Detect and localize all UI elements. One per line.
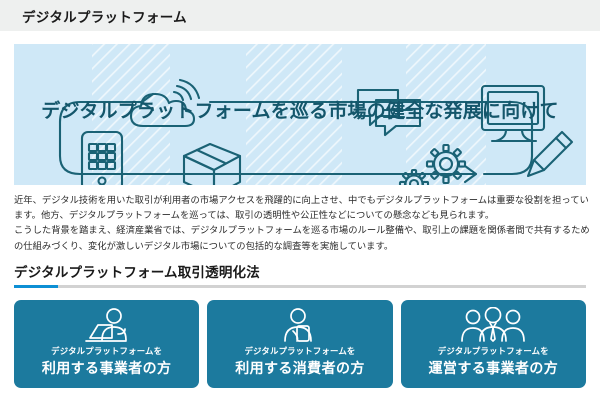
card-line1: デジタルプラットフォームを — [51, 345, 162, 357]
section-heading-text: デジタルプラットフォーム取引透明化法 — [14, 261, 586, 285]
page-root: デジタルプラットフォーム — [0, 0, 600, 400]
page-title: デジタルプラットフォーム — [22, 6, 187, 26]
card-business-user[interactable]: デジタルプラットフォームを 利用する事業者の方 — [14, 300, 199, 388]
card-consumer-user[interactable]: デジタルプラットフォームを 利用する消費者の方 — [207, 300, 392, 388]
card-list: デジタルプラットフォームを 利用する事業者の方 デジタルプラットフォームを 利用… — [14, 300, 586, 388]
pencil-icon — [528, 132, 572, 176]
hero-title: デジタルプラットフォームを巡る市場の健全な発展に向けて — [14, 96, 586, 123]
body-line-3: こうした背景を踏まえ、経済産業省では、デジタルプラットフォームを巡る市場のルール… — [14, 223, 586, 238]
section-heading: デジタルプラットフォーム取引透明化法 — [14, 261, 586, 288]
section-accent-rule — [14, 285, 586, 288]
card-line2: 運営する事業者の方 — [429, 358, 559, 378]
card-line1: デジタルプラットフォームを — [244, 345, 355, 357]
page-header: デジタルプラットフォーム — [0, 0, 600, 31]
person-smartphone-icon — [269, 307, 331, 343]
card-line2: 利用する消費者の方 — [235, 358, 365, 378]
body-copy: 近年、デジタル技術を用いた取引が利用者の市場アクセスを飛躍的に向上させ、中でもデ… — [14, 193, 586, 254]
hero-banner: デジタルプラットフォームを巡る市場の健全な発展に向けて — [14, 44, 586, 185]
person-laptop-icon — [76, 307, 138, 343]
card-platform-operator[interactable]: デジタルプラットフォームを 運営する事業者の方 — [401, 300, 586, 388]
card-line1: デジタルプラットフォームを — [438, 345, 549, 357]
body-line-4: の仕組みづくり、変化が激しいデジタル市場についての包括的な調査等を実施しています… — [14, 239, 586, 254]
three-people-icon — [459, 307, 527, 343]
body-line-2: ます。他方、デジタルプラットフォームを巡っては、取引の透明性や公正性などについて… — [14, 208, 586, 223]
card-line2: 利用する事業者の方 — [42, 358, 172, 378]
package-box-icon — [184, 144, 240, 185]
body-line-1: 近年、デジタル技術を用いた取引が利用者の市場アクセスを飛躍的に向上させ、中でもデ… — [14, 193, 586, 208]
